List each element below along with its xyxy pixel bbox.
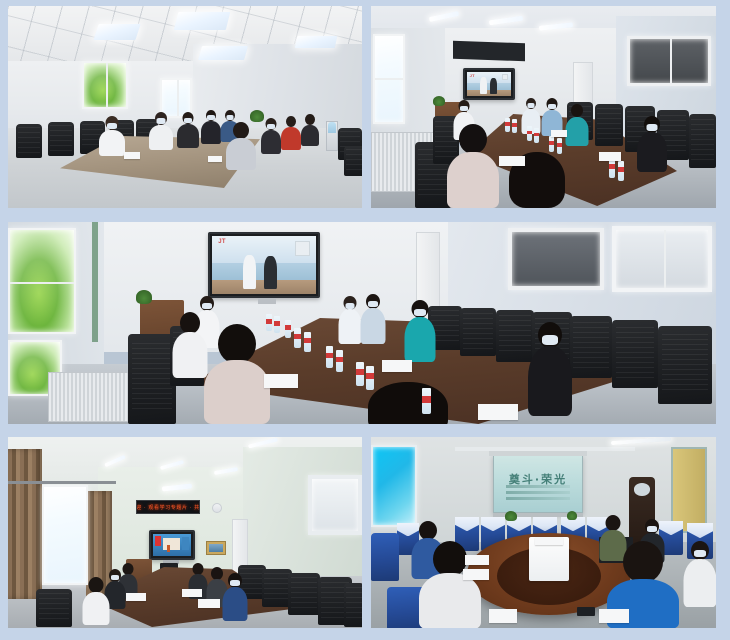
plant [505, 511, 517, 521]
water-bottle [505, 118, 510, 132]
person [204, 324, 270, 424]
chair [48, 122, 74, 156]
television[interactable]: JT [208, 232, 320, 298]
photo-collage: JT [0, 0, 730, 640]
person [360, 294, 386, 344]
chair [344, 146, 362, 176]
head [433, 541, 467, 577]
curtain-left [8, 449, 42, 599]
water-bottle [366, 366, 374, 390]
chair [288, 573, 320, 615]
torso [83, 592, 110, 625]
face-mask [647, 526, 657, 532]
notebook [499, 156, 525, 166]
face-mask [414, 309, 426, 316]
tv-content-figure [167, 545, 170, 552]
chair [16, 124, 42, 158]
face-mask [184, 118, 192, 123]
photo-thumbnail-5[interactable]: 奠斗·荣光 [371, 437, 716, 628]
torso [566, 117, 589, 146]
notebook [124, 152, 140, 159]
window-mullion [10, 282, 74, 284]
head [368, 382, 448, 424]
phone [577, 607, 595, 616]
tv-person [490, 78, 497, 94]
notebook [465, 555, 489, 565]
notebook [599, 609, 629, 623]
notebook [489, 609, 517, 623]
notebook [478, 404, 518, 420]
person [200, 110, 222, 144]
chair-cover [533, 517, 557, 531]
face-mask [694, 550, 706, 557]
window-mullion [664, 230, 666, 288]
person [98, 116, 126, 156]
clock-face [634, 483, 651, 495]
torso [281, 127, 301, 150]
photo-3-scene: JT [8, 222, 716, 424]
screen-roller [489, 451, 587, 456]
window-mullion [375, 78, 403, 80]
person [528, 322, 572, 416]
tv-channel-logo: JT [470, 73, 475, 78]
water-bottle [326, 346, 333, 368]
television[interactable]: JT [463, 68, 515, 100]
water-bottle [557, 138, 562, 154]
document-on-stand [535, 537, 563, 545]
notebook [599, 152, 621, 161]
person [404, 300, 436, 362]
torso [201, 121, 221, 144]
plant [433, 96, 445, 106]
projection-row [506, 485, 569, 488]
projection-text-rows [506, 485, 569, 503]
chair [658, 326, 712, 404]
photo-thumbnail-3[interactable]: JT [8, 222, 716, 424]
torso [528, 346, 572, 416]
torso [405, 317, 436, 362]
torso [637, 132, 667, 172]
water-bottle [356, 362, 364, 386]
face-mask [107, 123, 117, 129]
ceiling-light-panel [198, 46, 248, 60]
person [260, 118, 282, 154]
person [338, 296, 362, 344]
curtain-rod [8, 481, 116, 484]
head [305, 114, 315, 125]
torso [173, 332, 208, 378]
tv-person [480, 77, 487, 94]
person [565, 104, 589, 146]
wall-fan [212, 503, 222, 513]
chair-cover [455, 517, 479, 531]
person [226, 122, 256, 170]
head [233, 122, 249, 139]
face-mask [548, 104, 556, 109]
tv-person [243, 255, 256, 289]
torso [149, 125, 173, 150]
head [286, 116, 296, 127]
notebook [182, 589, 202, 597]
torso [447, 152, 499, 208]
chair [36, 589, 72, 627]
photo-thumbnail-2[interactable]: JT [371, 6, 716, 208]
water-bottle [422, 388, 431, 414]
water-bottle [527, 126, 532, 141]
tv-channel-logo: JT [218, 239, 226, 245]
notebook [126, 593, 146, 601]
chair [460, 308, 496, 356]
window-mullion [106, 63, 108, 107]
head [623, 541, 663, 583]
face-mask [267, 124, 275, 129]
tv-wall-bracket [258, 298, 276, 304]
torso [419, 573, 481, 628]
photo-thumbnail-1[interactable] [8, 6, 362, 208]
window-mullion [670, 39, 672, 83]
face-mask [647, 124, 658, 131]
window-left [373, 34, 405, 124]
head [571, 104, 583, 117]
water-cooler [326, 121, 338, 151]
photo-5-scene: 奠斗·荣光 [371, 437, 716, 628]
tv-screen: JT [212, 236, 316, 294]
person [683, 541, 716, 607]
window-right [508, 228, 604, 290]
face-mask [542, 335, 558, 345]
head [459, 124, 487, 154]
torso [339, 309, 362, 344]
torso [223, 587, 248, 621]
person [82, 577, 110, 625]
plant [250, 110, 264, 122]
picture-frame [206, 541, 226, 555]
torso [301, 125, 319, 146]
chair [371, 533, 399, 581]
wall-trim [92, 222, 98, 342]
ceiling-light-panel [295, 36, 338, 48]
chair [344, 583, 362, 627]
head [218, 324, 256, 364]
window-mullion [177, 80, 179, 116]
torso [204, 360, 270, 424]
ceiling-light-panel [174, 12, 230, 30]
water-bottle [266, 314, 272, 331]
water-jug [328, 122, 336, 133]
notebook [198, 599, 220, 608]
person [148, 112, 174, 150]
torso [99, 130, 125, 156]
head [180, 312, 200, 334]
plant [136, 290, 152, 304]
projection-row [506, 497, 569, 500]
chair [128, 334, 176, 424]
led-sign-text: 热烈欢迎 · 观看学习专题片 · 共同进步 [136, 504, 200, 511]
tv-screen: JT [467, 72, 511, 96]
chair [570, 316, 612, 378]
projection-screen: 奠斗·荣光 [493, 455, 583, 513]
torso [177, 124, 199, 148]
torso [226, 138, 256, 170]
water-bottle [304, 332, 311, 352]
water-bottle [512, 119, 517, 133]
torso [684, 559, 717, 607]
notebook [264, 374, 298, 388]
window-right-far [612, 226, 712, 292]
photo-2-scene: JT [371, 6, 716, 208]
plant [567, 511, 577, 520]
person [172, 312, 208, 378]
tv-overlay-badge [295, 241, 310, 256]
tv-person [264, 256, 277, 289]
tv-content-left [155, 536, 161, 546]
photo-1-scene [8, 6, 362, 208]
head [606, 515, 621, 531]
window-left [42, 485, 88, 585]
window-left [82, 61, 128, 109]
face-mask [368, 301, 378, 307]
photo-thumbnail-4[interactable]: 热烈欢迎 · 观看学习专题片 · 共同进步 [8, 437, 362, 628]
head [89, 577, 104, 593]
notebook [382, 360, 412, 372]
face-mask [207, 115, 215, 120]
face-mask [460, 106, 468, 111]
water-bottle [549, 136, 554, 152]
photo-4-scene: 热烈欢迎 · 观看学习专题片 · 共同进步 [8, 437, 362, 628]
notebook [463, 569, 489, 580]
person [280, 116, 302, 150]
notebook [208, 156, 222, 162]
window-right [308, 475, 362, 535]
led-scrolling-sign: 热烈欢迎 · 观看学习专题片 · 共同进步 [136, 500, 200, 514]
person [637, 116, 667, 172]
water-bottle [609, 158, 615, 178]
water-bottle [294, 328, 301, 348]
window-left [8, 228, 76, 334]
wall-banner [453, 41, 525, 62]
chair-cover [687, 523, 713, 538]
water-bottle [274, 316, 280, 333]
tv-overlay-badge [502, 74, 508, 80]
water-bottle [618, 161, 624, 181]
chair [612, 320, 658, 388]
projection-row [506, 491, 569, 494]
water-bottle [534, 128, 539, 143]
face-mask [111, 575, 119, 580]
window-blue [371, 445, 417, 527]
torso [261, 130, 281, 154]
person [360, 382, 456, 424]
tv-content-right [182, 537, 190, 550]
person [176, 112, 200, 148]
water-bottle [285, 320, 291, 338]
chair [595, 104, 623, 146]
person [447, 124, 499, 208]
person [222, 573, 248, 621]
notebook [551, 130, 567, 137]
person [300, 114, 320, 146]
face-mask [202, 303, 212, 309]
chair [689, 114, 716, 168]
window-right [627, 36, 711, 86]
face-mask [227, 115, 234, 120]
tv-content-mid [163, 538, 180, 550]
chair-cover [481, 517, 505, 531]
face-mask [528, 103, 535, 108]
ceiling-light-panel [93, 24, 140, 40]
torso [361, 308, 386, 344]
face-mask [230, 580, 240, 586]
face-mask [157, 118, 166, 124]
tv-screen [153, 534, 191, 556]
television[interactable] [149, 530, 195, 560]
water-bottle [336, 350, 343, 372]
